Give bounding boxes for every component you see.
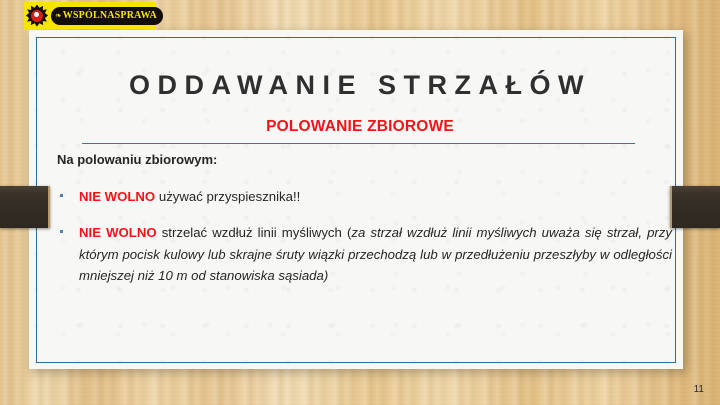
- list-item: NIE WOLNO używać przyspiesznika!!: [57, 186, 672, 207]
- slide-content: ODDAWANIE STRZAŁÓW POLOWANIE ZBIOROWE Na…: [0, 0, 720, 405]
- bullet-text: strzelać wzdłuż linii myśliwych (: [157, 225, 352, 240]
- bullet-text: używać przyspiesznika!!: [155, 189, 300, 204]
- right-accent-bar: [670, 186, 720, 228]
- logo-pill: ❧ WSPÓLNASPRAWA: [51, 7, 163, 25]
- lead-text: Na polowaniu zbiorowym:: [57, 152, 217, 167]
- bullet-list: NIE WOLNO używać przyspiesznika!! NIE WO…: [57, 186, 672, 302]
- bullet-emphasis: NIE WOLNO: [79, 189, 155, 204]
- page-title: ODDAWANIE STRZAŁÓW: [0, 70, 720, 101]
- page-subtitle: POLOWANIE ZBIOROWE: [0, 118, 720, 136]
- bullet-dot-icon: [60, 194, 63, 197]
- slide-number: 11: [694, 384, 704, 395]
- bullet-dot-icon: [60, 230, 63, 233]
- starburst-icon: [26, 5, 48, 27]
- bullet-tail: ): [324, 268, 328, 283]
- left-accent-bar: [0, 186, 50, 228]
- logo-banner: ❧ WSPÓLNASPRAWA: [24, 2, 156, 29]
- bullet-emphasis: NIE WOLNO: [79, 225, 157, 240]
- list-item: NIE WOLNO strzelać wzdłuż linii myśliwyc…: [57, 222, 672, 286]
- leaf-icon: ❧: [55, 12, 62, 20]
- presentation-slide: ODDAWANIE STRZAŁÓW POLOWANIE ZBIOROWE Na…: [0, 0, 720, 405]
- title-divider: [82, 143, 635, 144]
- logo-text: WSPÓLNASPRAWA: [63, 10, 157, 21]
